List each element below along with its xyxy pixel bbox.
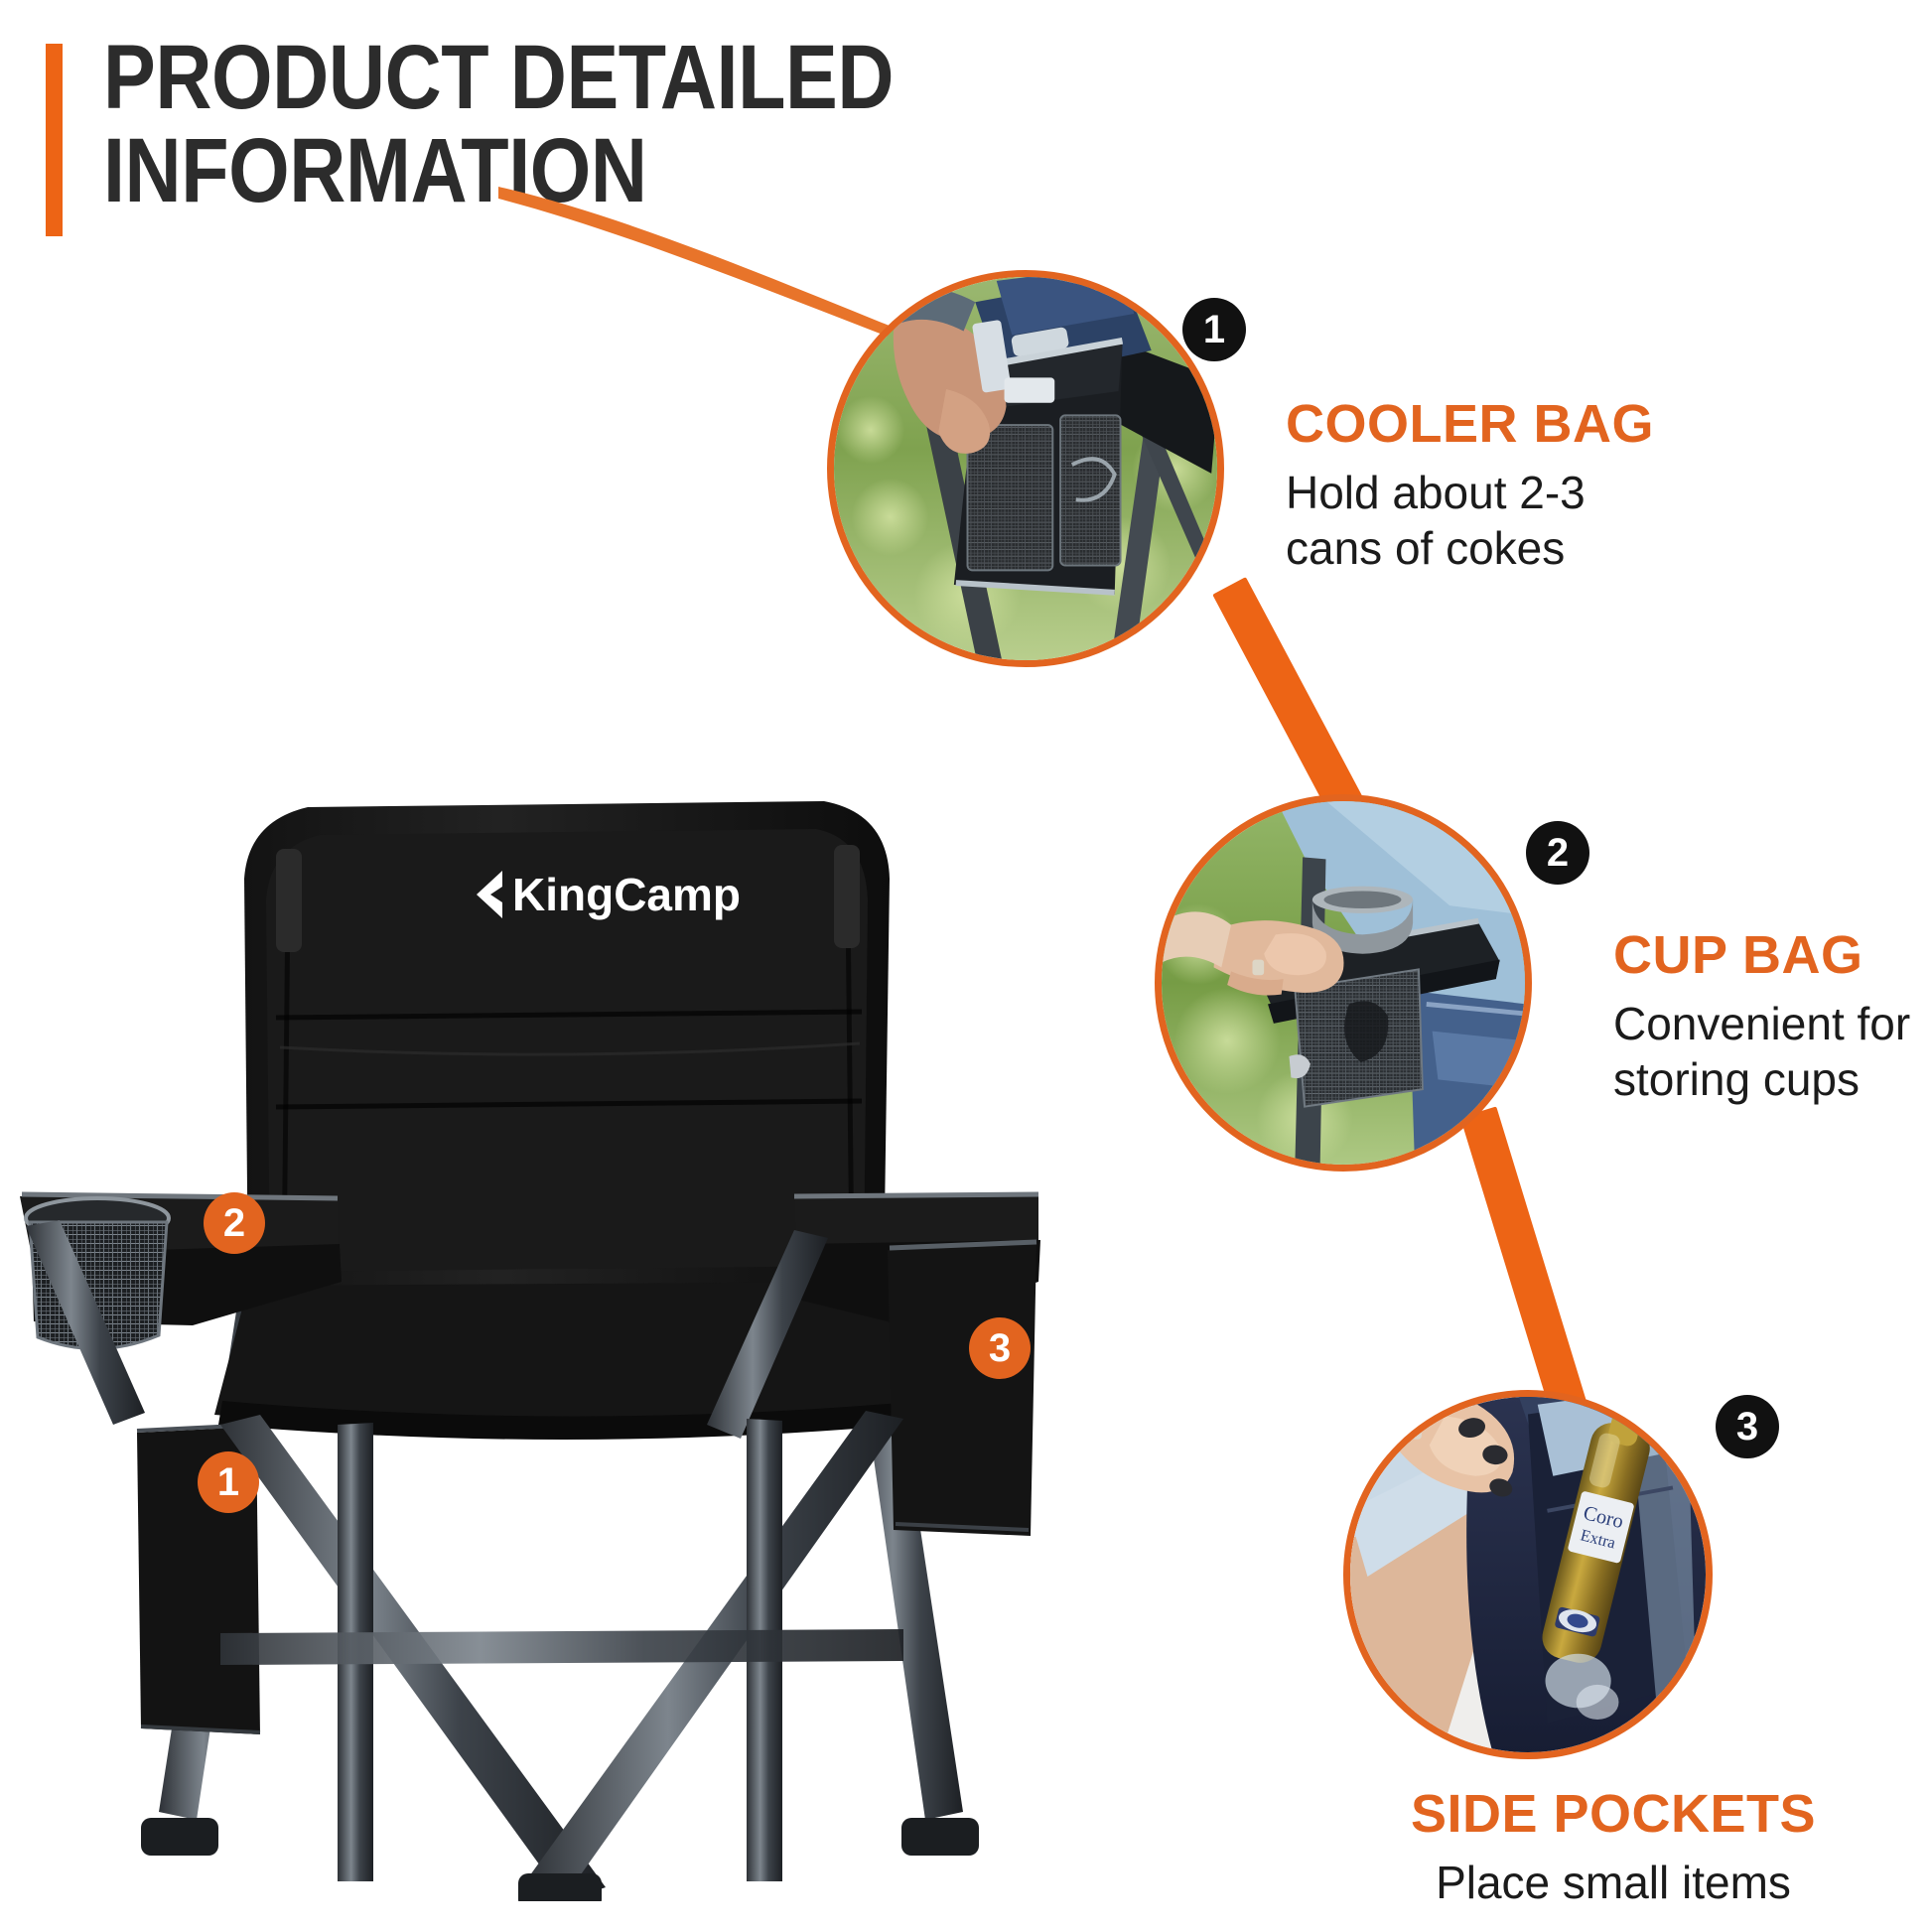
photo-cooler-bag <box>827 270 1224 667</box>
infographic-canvas: PRODUCT DETAILED INFORMATION <box>0 0 1932 1932</box>
callout-heading-cooler: COOLER BAG <box>1286 397 1842 451</box>
callout-body-cup-line2: storing cups <box>1613 1051 1932 1107</box>
callout-cooler-bag: COOLER BAG Hold about 2-3 cans of cokes <box>1286 397 1842 576</box>
chair-badge-1: 1 <box>198 1451 259 1513</box>
badge-black-3: 3 <box>1716 1395 1779 1458</box>
callout-body-cooler-line1: Hold about 2-3 <box>1286 465 1842 520</box>
kingcamp-logo: KingCamp <box>477 869 741 920</box>
chair-badge-3: 3 <box>969 1317 1031 1379</box>
badge-black-2: 2 <box>1526 821 1589 885</box>
callout-heading-pockets: SIDE POCKETS <box>1335 1787 1891 1841</box>
callout-cup-bag: CUP BAG Convenient for storing cups <box>1613 928 1932 1107</box>
callout-heading-cup: CUP BAG <box>1613 928 1932 982</box>
product-image-camping-chair: KingCamp <box>10 730 1122 1901</box>
badge-black-1: 1 <box>1182 298 1246 361</box>
page-title-line-1: PRODUCT DETAILED <box>103 27 894 128</box>
chair-badge-2: 2 <box>204 1192 265 1254</box>
photo-side-pockets: Coro Extra <box>1343 1390 1713 1759</box>
svg-text:KingCamp: KingCamp <box>512 869 741 920</box>
callout-side-pockets: SIDE POCKETS Place small items <box>1335 1787 1891 1910</box>
title-accent-bar <box>46 44 63 236</box>
callout-body-cooler-line2: cans of cokes <box>1286 520 1842 576</box>
callout-body-pockets: Place small items <box>1335 1855 1891 1910</box>
callout-body-cup-line1: Convenient for <box>1613 996 1932 1051</box>
photo-cup-bag <box>1155 794 1532 1172</box>
